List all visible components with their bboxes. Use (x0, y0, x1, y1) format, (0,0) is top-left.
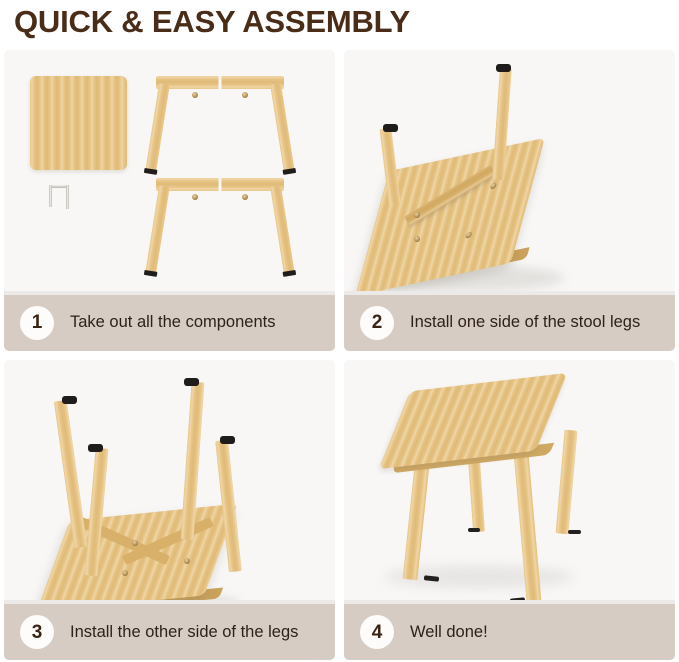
screw-hole (192, 194, 198, 200)
foot-cap-icon (62, 396, 77, 404)
step-3-caption-bar: 3 Install the other side of the legs (4, 604, 335, 660)
foot-cap-icon (144, 168, 158, 175)
hex-key-wrench-arm (49, 185, 52, 207)
rail-center-notch (219, 178, 222, 191)
step-1-photo (4, 50, 335, 295)
screw-hole (122, 570, 128, 576)
assembly-steps-grid: 1 Take out all the components (4, 50, 675, 660)
foot-cap-icon (283, 270, 297, 277)
foot-cap-icon (383, 124, 398, 132)
step-4-photo (344, 360, 675, 605)
rail-center-notch (219, 76, 222, 89)
leg-back-right (555, 429, 577, 534)
screw-hole (242, 194, 248, 200)
leg-left (145, 185, 170, 274)
finished-stool-illustration (344, 360, 675, 605)
foot-cap-icon (283, 168, 297, 175)
page-title: QUICK & EASY ASSEMBLY (14, 1, 410, 43)
step-card-2: 2 Install one side of the stool legs (344, 50, 675, 351)
step-1-caption-bar: 1 Take out all the components (4, 295, 335, 351)
step-caption-text: Well done! (410, 623, 488, 642)
step-1-parts-illustration (4, 50, 335, 295)
screw-hole (414, 212, 420, 218)
step-number-badge: 3 (20, 615, 54, 649)
foot-cap-icon (510, 597, 525, 603)
screw-hole (489, 182, 497, 190)
hex-key-wrench-arm-2 (66, 185, 69, 209)
leg-left (145, 83, 170, 172)
seat-panel-part (30, 76, 127, 170)
leg-right (270, 185, 295, 274)
step-card-3: 3 Install the other side of the legs (4, 360, 335, 661)
step-3-assembly-illustration (4, 360, 335, 605)
step-2-assembly-illustration (344, 50, 675, 295)
foot-cap-icon (144, 270, 158, 277)
step-card-1: 1 Take out all the components (4, 50, 335, 351)
leg-frame-part-2 (156, 178, 284, 280)
foot-cap-icon (568, 530, 581, 534)
step-caption-text: Install one side of the stool legs (410, 313, 640, 332)
foot-cap-icon (468, 528, 480, 532)
leg-1 (54, 399, 87, 547)
step-2-caption-bar: 2 Install one side of the stool legs (344, 295, 675, 351)
leg-right (270, 83, 295, 172)
step-3-photo (4, 360, 335, 605)
screw-hole (184, 558, 190, 564)
step-4-caption-bar: 4 Well done! (344, 604, 675, 660)
step-number-badge: 2 (360, 306, 394, 340)
screw-hole (414, 236, 420, 242)
leg-frame-part-1 (156, 76, 284, 178)
screw-hole (242, 92, 248, 98)
screw-hole (132, 540, 138, 546)
step-number-badge: 1 (20, 306, 54, 340)
foot-cap-icon (184, 378, 199, 386)
foot-cap-icon (424, 575, 439, 582)
screw-hole (192, 92, 198, 98)
foot-cap-icon (220, 436, 235, 444)
step-card-4: 4 Well done! (344, 360, 675, 661)
step-caption-text: Install the other side of the legs (70, 623, 298, 642)
screw-hole (465, 231, 473, 239)
foot-cap-icon (496, 64, 511, 72)
foot-cap-icon (88, 444, 103, 452)
step-caption-text: Take out all the components (70, 313, 275, 332)
step-number-badge: 4 (360, 615, 394, 649)
step-2-photo (344, 50, 675, 295)
